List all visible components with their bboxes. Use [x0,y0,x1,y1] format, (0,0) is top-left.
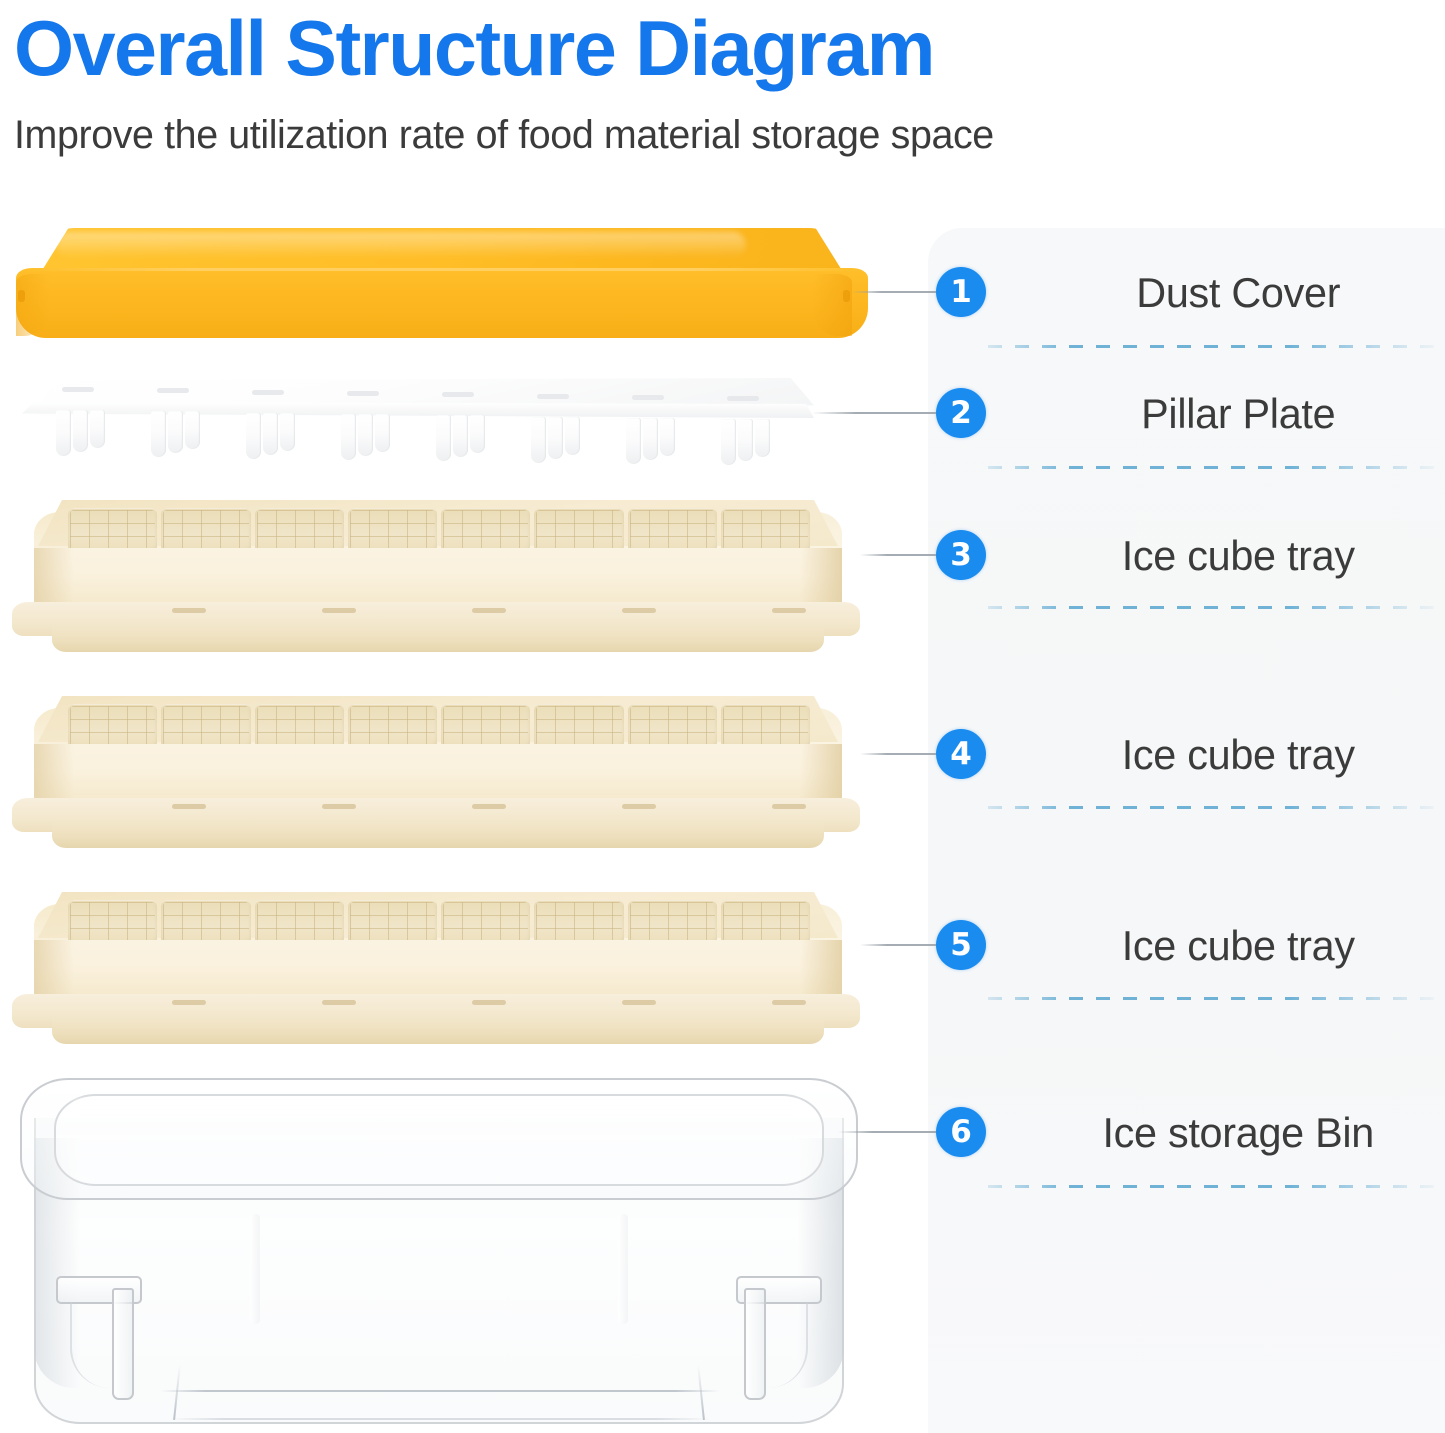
bin-inner-ridge-left [250,1214,260,1324]
tray-cell-column [348,508,437,552]
pillar [358,414,373,456]
dust-cover-right-shade [812,274,852,336]
pillar [90,410,105,448]
tray-notch [172,608,206,613]
tray-cell-column [255,900,344,944]
pillar [73,410,88,452]
pillar [470,415,485,453]
tray-notch [772,804,806,809]
pillar [755,419,770,457]
ice-cube-tray-1 [12,496,860,656]
tray-front-wall [34,548,842,610]
tray-notch [622,608,656,613]
leader-line-6 [838,1131,936,1133]
pillar [375,414,390,452]
tray-wall-right-shade [800,744,842,806]
tray-notch [772,608,806,613]
tray-notch [622,1000,656,1005]
tray-cell-column [441,900,530,944]
legend-badge-6[interactable]: 6 [936,1107,986,1157]
legend-badge-4[interactable]: 4 [936,729,986,779]
tray-cell-column [255,704,344,748]
legend-badge-1[interactable]: 1 [936,267,986,317]
tray-cell-column [161,704,250,748]
tray-cell-column [534,900,623,944]
pillar [168,411,183,453]
pillar [185,411,200,449]
pillar-group [246,413,318,461]
tray-cell-column [628,704,717,748]
ice-cube-tray-2 [12,692,860,852]
bin-handle-left-fillet [70,1302,110,1388]
tray-cell-column [721,704,810,748]
leader-line-3 [860,554,936,556]
tray-cell-column [68,704,157,748]
tray-notch [472,804,506,809]
tray-cell-grid [68,900,810,944]
tray-cell-column [441,704,530,748]
dust-cover-right-nub [843,290,850,302]
pillar-plate-slot [442,392,474,397]
pillar [246,413,261,459]
bin-rim-highlight [72,1100,802,1114]
pillar [643,418,658,460]
tray-notch [172,1000,206,1005]
pillar [548,417,563,459]
pillar [263,413,278,455]
pillar [565,417,580,455]
pillar-plate-slot [347,391,379,396]
tray-cell-column [534,508,623,552]
leader-line-2 [812,412,936,414]
legend-divider [988,606,1445,609]
legend-badge-2[interactable]: 2 [936,388,986,438]
pillar [738,419,753,461]
tray-cell-column [348,900,437,944]
legend-divider [988,1185,1445,1188]
tray-cell-column [68,900,157,944]
tray-notch [172,804,206,809]
tray-cell-column [255,508,344,552]
bin-handle-right [736,1276,822,1400]
tray-notch [622,804,656,809]
pillar-plate-illustration [22,378,822,462]
pillar-group [436,415,508,463]
legend-label-ice-cube-tray-2: Ice cube tray [1056,730,1420,780]
pillar-group [721,419,793,467]
ice-cube-tray-3 [12,888,860,1048]
legend-label-pillar-plate: Pillar Plate [1056,389,1420,439]
pillar [151,411,166,457]
bin-bottom-line [170,1418,710,1420]
pillar [453,415,468,457]
pillar-group [56,410,128,458]
tray-wall-right-shade [800,548,842,610]
tray-cell-column [721,508,810,552]
pillar-plate-slot [537,394,569,399]
tray-wall-left-shade [34,744,74,806]
tray-notch [472,1000,506,1005]
dust-cover-illustration [16,228,852,338]
tray-cell-column [68,508,157,552]
legend-divider [988,345,1445,348]
tray-cell-grid [68,508,810,552]
tray-notch [322,804,356,809]
dust-cover-front-face [16,268,868,338]
tray-cell-column [161,900,250,944]
tray-foot [52,1018,824,1044]
tray-cell-column [534,704,623,748]
legend-badge-5[interactable]: 5 [936,920,986,970]
pillar-plate-slot [252,390,284,395]
pillar [531,417,546,463]
bin-handle-left [56,1276,142,1400]
tray-wall-left-shade [34,940,74,1002]
tray-cell-grid [68,704,810,748]
pillar [721,419,736,465]
pillar-group [531,417,603,465]
exploded-view-products [0,0,930,1433]
legend-label-ice-cube-tray-1: Ice cube tray [1056,531,1420,581]
legend-badge-3[interactable]: 3 [936,530,986,580]
tray-foot [52,822,824,848]
legend-label-ice-storage-bin: Ice storage Bin [1056,1108,1420,1158]
bin-handle-right-post [744,1288,766,1400]
pillar [436,415,451,461]
bin-handle-left-post [112,1288,134,1400]
leader-line-4 [860,753,936,755]
legend-label-ice-cube-tray-3: Ice cube tray [1056,921,1420,971]
tray-cell-column [348,704,437,748]
legend-divider [988,997,1445,1000]
tray-notch [322,608,356,613]
pillar [341,414,356,460]
dust-cover-lip [26,268,858,271]
diagram-page: Overall Structure Diagram Improve the ut… [0,0,1445,1433]
legend-divider [988,806,1445,809]
pillar-plate-front-edge [22,402,814,418]
tray-notch [772,1000,806,1005]
leader-line-1 [852,291,936,293]
tray-cell-column [628,508,717,552]
tray-cell-column [628,900,717,944]
legend-divider [988,466,1445,469]
pillar-plate-slot [157,388,189,393]
pillar-group [341,414,413,462]
bin-inner-ridge-right [618,1214,628,1324]
tray-foot [52,626,824,652]
tray-cell-column [441,508,530,552]
pillar-group [151,411,223,459]
tray-notch [472,608,506,613]
tray-cell-column [161,508,250,552]
tray-front-wall [34,940,842,1002]
tray-wall-left-shade [34,548,74,610]
pillar [660,418,675,456]
dust-cover-highlight [56,232,746,258]
bin-handle-right-fillet [768,1302,808,1388]
dust-cover-left-nub [18,290,25,302]
pillar-plate-slot [727,396,759,401]
pillar-group [626,418,698,466]
tray-front-wall [34,744,842,806]
pillar-plate-slot [62,387,94,392]
tray-wall-right-shade [800,940,842,1002]
bin-base-line [160,1390,720,1392]
legend-label-dust-cover: Dust Cover [1056,268,1420,318]
leader-line-5 [860,944,936,946]
pillar [626,418,641,464]
pillar-plate-slot [632,395,664,400]
tray-notch [322,1000,356,1005]
pillar [280,413,295,451]
tray-cell-column [721,900,810,944]
ice-storage-bin-illustration [20,1078,858,1430]
pillar [56,410,71,456]
